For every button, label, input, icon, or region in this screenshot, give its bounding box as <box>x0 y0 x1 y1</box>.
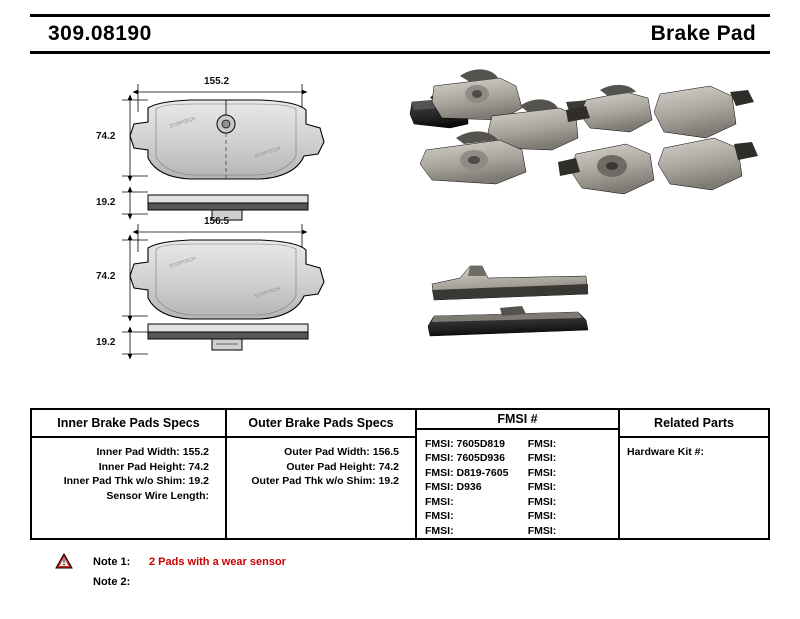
note-1-label: Note 1: <box>93 556 149 568</box>
inner-spec-row: Inner Pad Thk w/o Shim: 19.2 <box>40 474 217 489</box>
note-1-value: 2 Pads with a wear sensor <box>149 556 286 568</box>
inner-thickness-dim: 19.2 <box>96 197 115 208</box>
fmsi-row: FMSI: 7605D819 <box>425 437 528 452</box>
fmsi-column: FMSI # FMSI: 7605D819 FMSI: 7605D936 FMS… <box>417 410 620 538</box>
technical-drawing-area: STOPTECH STOPTECH <box>30 62 770 402</box>
fmsi-header: FMSI # <box>417 410 618 430</box>
related-parts-column: Related Parts Hardware Kit #: <box>620 410 768 538</box>
specs-table: Inner Brake Pads Specs Inner Pad Width: … <box>30 408 770 540</box>
drawing-svg: STOPTECH STOPTECH <box>30 62 770 402</box>
inner-specs-column: Inner Brake Pads Specs Inner Pad Width: … <box>32 410 227 538</box>
related-parts-header: Related Parts <box>620 410 768 438</box>
page-title: Brake Pad <box>651 22 770 46</box>
outer-specs-column: Outer Brake Pads Specs Outer Pad Width: … <box>227 410 417 538</box>
fmsi-row: FMSI: <box>425 509 528 524</box>
note-row-2: Note 2: <box>30 572 770 592</box>
fmsi-row: FMSI: <box>528 437 618 452</box>
fmsi-row: FMSI: <box>528 480 618 495</box>
fmsi-row: FMSI: D819-7605 <box>425 466 528 481</box>
outer-width-dim: 156.5 <box>204 216 229 227</box>
outer-spec-row: Outer Pad Width: 156.5 <box>235 445 407 460</box>
fmsi-row: FMSI: <box>425 495 528 510</box>
outer-spec-row: Outer Pad Height: 74.2 <box>235 460 407 475</box>
related-parts-body: Hardware Kit #: <box>620 438 768 460</box>
fmsi-row: FMSI: <box>528 495 618 510</box>
inner-width-dim: 155.2 <box>204 76 229 87</box>
fmsi-left-list: FMSI: 7605D819 FMSI: 7605D936 FMSI: D819… <box>417 437 528 539</box>
inner-spec-row: Inner Pad Width: 155.2 <box>40 445 217 460</box>
inner-specs-header: Inner Brake Pads Specs <box>32 410 225 438</box>
fmsi-body: FMSI: 7605D819 FMSI: 7605D936 FMSI: D819… <box>417 430 618 539</box>
warning-icon <box>55 553 73 572</box>
fmsi-row: FMSI: 7605D936 <box>425 451 528 466</box>
inner-specs-body: Inner Pad Width: 155.2 Inner Pad Height:… <box>32 438 225 503</box>
brake-pad-spec-sheet: 309.08190 Brake Pad <box>0 0 800 619</box>
outer-thickness-dim: 19.2 <box>96 337 115 348</box>
fmsi-row: FMSI: <box>528 466 618 481</box>
fmsi-row: FMSI: <box>528 524 618 539</box>
note-2-label: Note 2: <box>93 576 149 588</box>
outer-specs-body: Outer Pad Width: 156.5 Outer Pad Height:… <box>227 438 415 489</box>
inner-spec-row: Inner Pad Height: 74.2 <box>40 460 217 475</box>
notes-section: Note 1: 2 Pads with a wear sensor Note 2… <box>30 552 770 592</box>
note-row-1: Note 1: 2 Pads with a wear sensor <box>30 552 770 572</box>
outer-spec-row: Outer Pad Thk w/o Shim: 19.2 <box>235 474 407 489</box>
related-parts-row: Hardware Kit #: <box>627 445 768 460</box>
outer-height-dim: 74.2 <box>96 271 115 282</box>
fmsi-row: FMSI: D936 <box>425 480 528 495</box>
fmsi-row: FMSI: <box>528 451 618 466</box>
fmsi-row: FMSI: <box>425 524 528 539</box>
fmsi-row: FMSI: <box>528 509 618 524</box>
part-number: 309.08190 <box>30 22 152 46</box>
outer-specs-header: Outer Brake Pads Specs <box>227 410 415 438</box>
page-header: 309.08190 Brake Pad <box>30 14 770 54</box>
inner-spec-row: Sensor Wire Length: <box>40 489 217 504</box>
inner-height-dim: 74.2 <box>96 131 115 142</box>
fmsi-right-list: FMSI: FMSI: FMSI: FMSI: FMSI: FMSI: FMSI… <box>528 437 618 539</box>
